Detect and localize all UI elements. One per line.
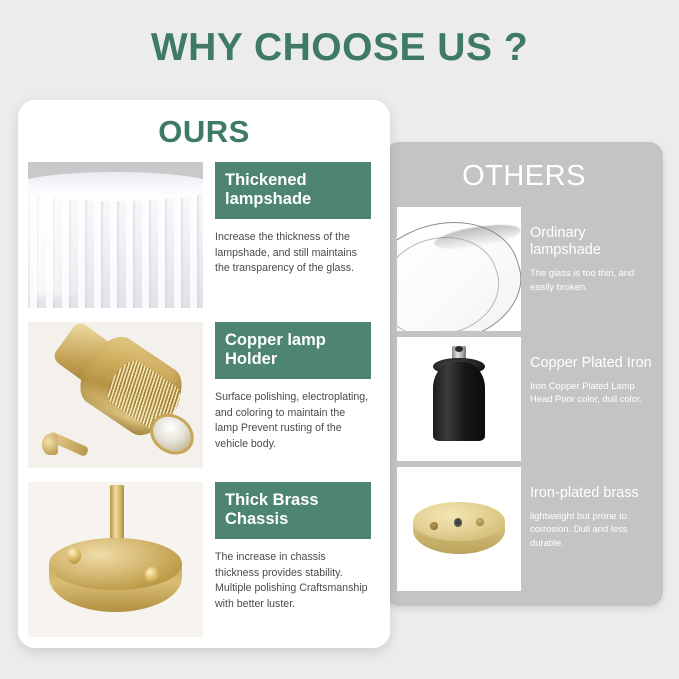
others-panel: OTHERS Ordinary lampshade The glass is t… bbox=[385, 142, 663, 606]
others-feature-text: Copper Plated Iron Iron Copper Plated La… bbox=[530, 337, 653, 461]
others-feature-row: Iron-plated brass lightweight but prone … bbox=[397, 467, 653, 591]
ours-feature-text: Copper lamp Holder Surface polishing, el… bbox=[215, 322, 371, 468]
ours-feature-text: Thickened lampshade Increase the thickne… bbox=[215, 162, 371, 308]
ours-feature-row: Copper lamp Holder Surface polishing, el… bbox=[28, 322, 371, 468]
ours-feature-description: The increase in chassis thickness provid… bbox=[215, 550, 371, 612]
thin-glass-dome-photo bbox=[397, 207, 521, 331]
others-feature-row: Ordinary lampshade The glass is too thin… bbox=[397, 207, 653, 331]
white-ribbed-lampshade-photo bbox=[28, 162, 203, 308]
ours-feature-badge: Copper lamp Holder bbox=[215, 322, 371, 379]
brass-chassis-photo bbox=[28, 482, 203, 637]
others-heading: OTHERS bbox=[385, 160, 663, 193]
page-title: WHY CHOOSE US ? bbox=[0, 26, 679, 70]
others-feature-text: Ordinary lampshade The glass is too thin… bbox=[530, 207, 653, 331]
ours-heading: OURS bbox=[18, 114, 390, 150]
others-feature-heading: Copper Plated Iron bbox=[530, 355, 653, 372]
others-feature-row: Copper Plated Iron Iron Copper Plated La… bbox=[397, 337, 653, 461]
ours-feature-description: Surface polishing, electroplating, and c… bbox=[215, 390, 371, 452]
iron-plated-brass-disc-photo bbox=[397, 467, 521, 591]
others-feature-description: The glass is too thin, and easily broken… bbox=[530, 266, 653, 293]
ours-feature-text: Thick Brass Chassis The increase in chas… bbox=[215, 482, 371, 637]
others-feature-description: Iron Copper Plated Lamp Head Poor color,… bbox=[530, 379, 653, 406]
ours-feature-badge: Thick Brass Chassis bbox=[215, 482, 371, 539]
others-feature-heading: Ordinary lampshade bbox=[530, 225, 653, 259]
ours-feature-badge: Thickened lampshade bbox=[215, 162, 371, 219]
others-feature-text: Iron-plated brass lightweight but prone … bbox=[530, 467, 653, 591]
others-feature-heading: Iron-plated brass bbox=[530, 485, 653, 502]
ours-feature-row: Thick Brass Chassis The increase in chas… bbox=[28, 482, 371, 637]
ours-panel: OURS Thickened lampshade Increase the th… bbox=[18, 100, 390, 648]
others-feature-description: lightweight but prone to corrosion. Dull… bbox=[530, 509, 653, 549]
ours-feature-row: Thickened lampshade Increase the thickne… bbox=[28, 162, 371, 308]
brass-lamp-holder-photo bbox=[28, 322, 203, 468]
black-copper-plated-socket-photo bbox=[397, 337, 521, 461]
ours-feature-description: Increase the thickness of the lampshade,… bbox=[215, 230, 371, 276]
